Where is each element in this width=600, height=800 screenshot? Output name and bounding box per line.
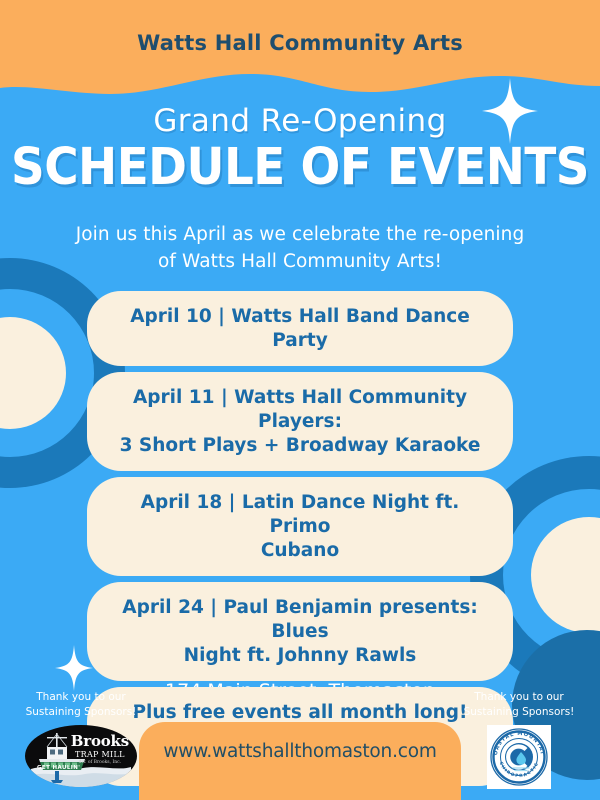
event-line-1: April 18 | Latin Dance Night ft. Primo [113,491,487,538]
event-line-1: April 11 | Watts Hall Community Players: [113,386,487,433]
event-line-1: April 10 | Watts Hall Band Dance Party [113,305,487,352]
sponsor-right-thanks: Thank you to our Sustaining Sponsors! [444,690,594,719]
decor-ring-right-inner [531,517,600,633]
website-url[interactable]: www.wattshallthomaston.com [163,741,436,762]
brooks-wordmark: Brooks TRAP MILL div. of Brooks, Inc. [71,734,129,766]
sponsor-right-thanks-line-1: Thank you to our [444,690,594,705]
sponsor-right-thanks-line-2: Sustaining Sponsors! [444,705,594,720]
website-bar[interactable]: www.wattshallthomaston.com [139,722,461,800]
brooks-name: Brooks [71,734,129,749]
sponsor-left-thanks-line-1: Thank you to our [6,690,156,705]
event-line-2: Night ft. Johnny Rawls [113,644,487,668]
decor-ring-left-inner [0,317,66,429]
brooks-banner-text: GET HAULIN' [37,765,80,771]
coastal-mountain-chiropractic-logo[interactable]: COASTAL MOUNTAIN CHIROPRACTIC [487,725,551,789]
headline-block: Grand Re-Opening SCHEDULE OF EVENTS [0,104,600,194]
decor-ring-right-mid [503,489,600,661]
organization-title: Watts Hall Community Arts [0,0,600,55]
event-line-2: Cubano [113,539,487,563]
event-line-1: April 24 | Paul Benjamin presents: Blues [113,596,487,643]
sponsor-left: Thank you to our Sustaining Sponsors! [6,690,156,787]
list-item[interactable]: April 10 | Watts Hall Band Dance Party [87,291,513,366]
headline-eyebrow: Grand Re-Opening [0,104,600,140]
circular-seal-icon: COASTAL MOUNTAIN CHIROPRACTIC [489,727,549,787]
decor-ring-left-mid [0,289,94,457]
brooks-trap-mill-logo[interactable]: Brooks TRAP MILL div. of Brooks, Inc. GE… [25,725,137,787]
list-item[interactable]: April 24 | Paul Benjamin presents: Blues… [87,582,513,681]
event-line-2: 3 Short Plays + Broadway Karaoke [113,434,487,458]
brooks-subtitle: TRAP MILL [71,751,129,759]
list-item[interactable]: April 18 | Latin Dance Night ft. Primo C… [87,477,513,576]
intro-line-1: Join us this April as we celebrate the r… [0,222,600,249]
list-item[interactable]: April 11 | Watts Hall Community Players:… [87,372,513,471]
sponsor-left-thanks-line-2: Sustaining Sponsors! [6,705,156,720]
sponsor-left-thanks: Thank you to our Sustaining Sponsors! [6,690,156,719]
page-title: SCHEDULE OF EVENTS [0,142,600,194]
sponsor-right: Thank you to our Sustaining Sponsors! [444,690,594,789]
intro-line-2: of Watts Hall Community Arts! [0,249,600,276]
intro-text: Join us this April as we celebrate the r… [0,222,600,276]
event-poster: Watts Hall Community Arts Grand Re-Openi… [0,0,600,800]
